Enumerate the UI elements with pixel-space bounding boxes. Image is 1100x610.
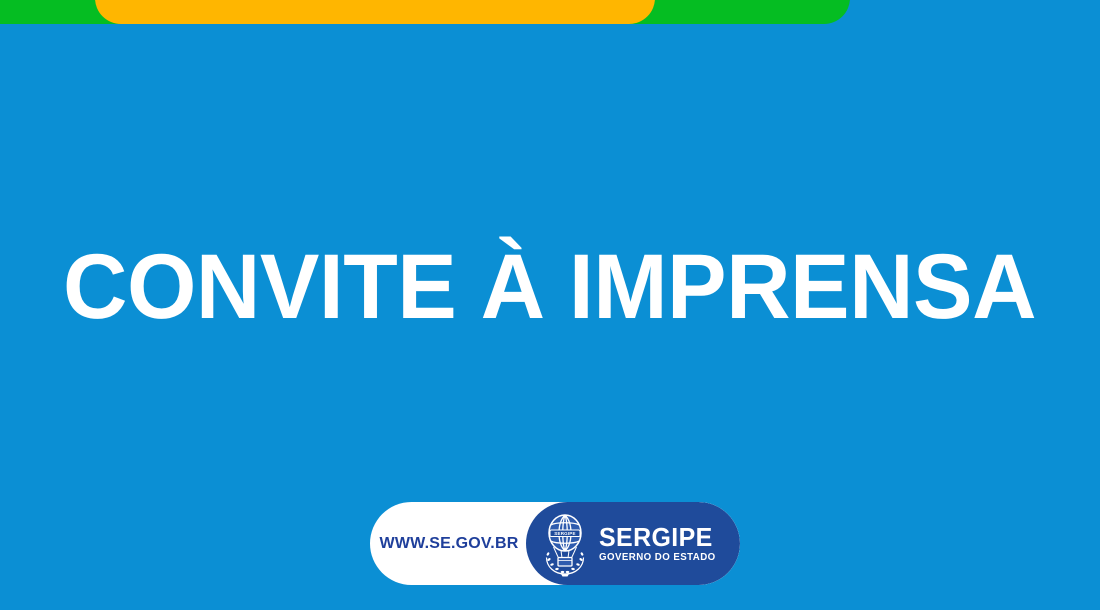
government-brand-zone: SERGIPE	[526, 502, 740, 585]
signature-pill: WWW.SE.GOV.BR	[370, 502, 740, 585]
svg-text:SERGIPE: SERGIPE	[554, 531, 575, 536]
page-title: CONVITE À IMPRENSA	[63, 241, 1036, 333]
brand-wordmark: SERGIPE GOVERNO DO ESTADO	[599, 524, 719, 563]
brand-subtitle: GOVERNO DO ESTADO	[599, 553, 716, 563]
website-url-zone: WWW.SE.GOV.BR	[370, 502, 528, 585]
sergipe-balloon-coat-of-arms: SERGIPE	[540, 511, 590, 577]
website-url[interactable]: WWW.SE.GOV.BR	[380, 535, 519, 553]
press-invitation-card: CONVITE À IMPRENSA WWW.SE.GOV.BR	[0, 0, 1100, 610]
brand-name: SERGIPE	[599, 524, 714, 550]
